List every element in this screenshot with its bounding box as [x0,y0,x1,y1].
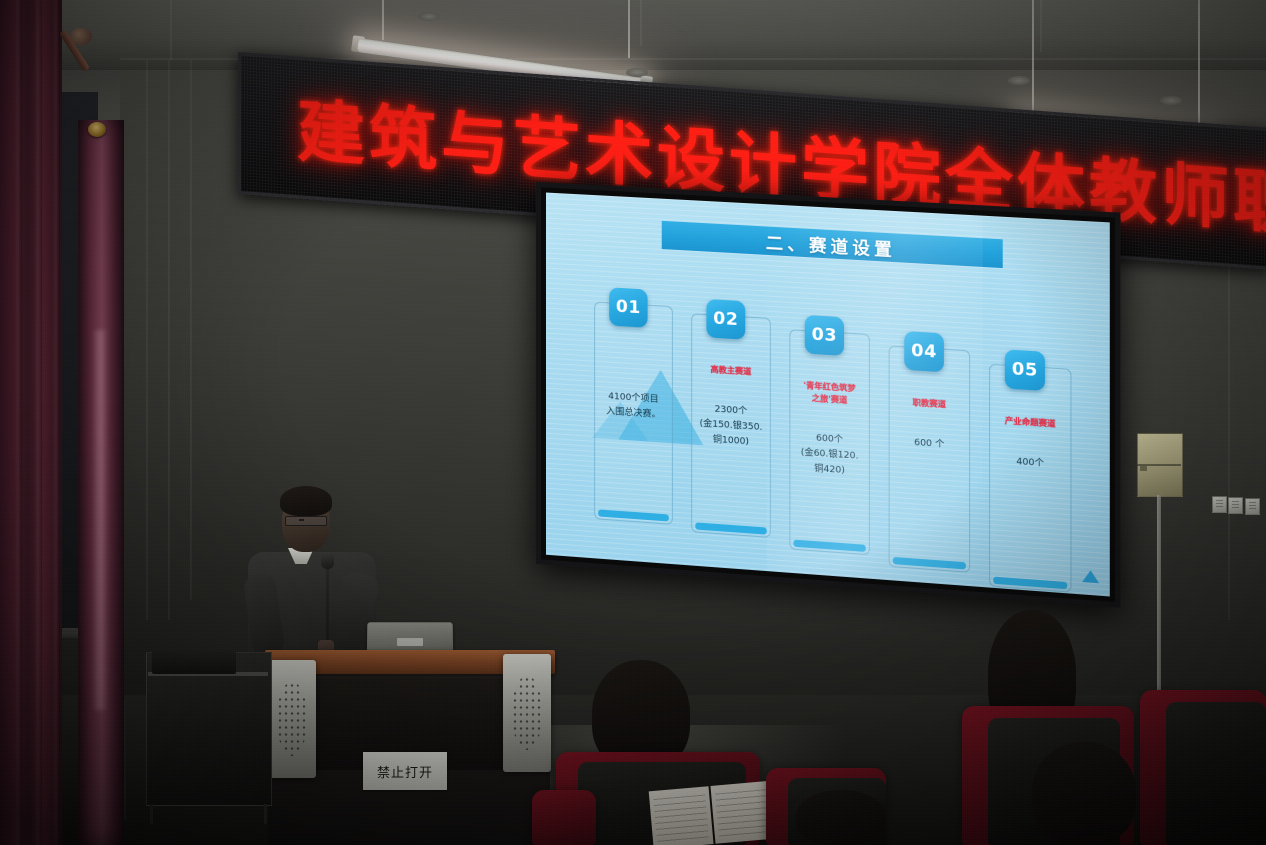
card-number: 01 [616,297,641,319]
light-switch [1212,496,1227,513]
light-switch [1245,498,1260,515]
ceiling-vent-icon [418,12,440,21]
track-card: 02 高教主赛道 2300个 (金150.银350. 铜1000) [691,313,771,538]
panel-latch [1140,466,1147,471]
ceiling-vent-icon [626,68,648,77]
audience-head [1032,742,1136,845]
card-heading: 产业命题赛道 [990,414,1070,432]
presentation-slide: 二、赛道设置 01 4100个项目 入围总决赛。 [546,193,1110,597]
card-heading: '青年红色筑梦 之旅'赛道 [790,379,869,408]
presenter-hair [280,486,332,516]
cart-equipment-box [152,650,236,674]
track-card: 04 职教赛道 600 个 [889,345,971,572]
track-card: 05 产业命题赛道 400个 [989,364,1071,593]
card-underbar [598,509,669,521]
seat-cushion [1166,702,1266,845]
wall-panel-line [168,60,170,620]
corner-triangle-icon [1082,570,1099,584]
card-number-badge: 04 [904,331,944,372]
card-heading [595,351,672,356]
cart-leg [264,804,267,824]
card-number-badge: 01 [609,287,647,327]
card-underbar [993,577,1067,590]
laptop-logo [397,638,423,646]
card-heading: 职教赛道 [890,395,969,412]
card-body: 2300个 (金150.银350. 铜1000) [684,401,778,453]
card-line: 600 个 [881,434,977,456]
podium-warning-sign: 禁止打开 [363,752,447,790]
notebook-lines [653,795,709,843]
card-line: 400个 [982,453,1079,475]
curtain-rod-knob [70,28,92,45]
light-stem [1198,0,1200,128]
eyeglasses [285,516,327,526]
slide-title-bar: 二、赛道设置 [662,221,1003,268]
audience-head [796,790,886,845]
wall-panel-line [190,60,192,600]
card-body: 600个 (金60.银120. 铜420) [782,429,877,481]
slide-title: 二、赛道设置 [766,228,896,261]
card-number: 02 [713,308,738,330]
open-notebook [649,781,776,845]
card-number: 04 [911,341,937,363]
card-number: 03 [812,324,837,346]
card-body: 4100个项目 入围总决赛。 [587,388,680,424]
cart-leg [150,804,153,824]
curtain-grommet [88,122,106,137]
notebook-lines [715,789,771,837]
ceiling-vent-icon [1008,76,1030,85]
card-number-badge: 05 [1005,349,1045,391]
ceiling-vent-icon [1160,96,1182,105]
microphone-icon [321,552,334,569]
card-number-badge: 03 [805,315,844,356]
light-stem [382,0,384,40]
podium-speaker-right [503,654,551,772]
lecture-hall-photo: 建筑与艺术设计学院全体教师职工大会 二、赛道设置 01 4100个项目 入围总决 [0,0,1266,845]
ceiling-seam [640,0,642,46]
light-stem [1032,0,1034,116]
card-body: 400个 [982,453,1079,475]
notebook-page-left [649,786,714,845]
curtain-fold [34,0,42,845]
podium-sign-text: 禁止打开 [377,762,433,781]
card-body: 600 个 [881,434,977,456]
auditorium-seat [532,790,596,845]
track-card: 03 '青年红色筑梦 之旅'赛道 600个 (金60.银120. 铜420) [789,329,870,555]
card-number: 05 [1012,359,1038,381]
curtain-fold [14,0,22,845]
card-underbar [695,522,767,534]
card-heading: 高教主赛道 [692,363,770,380]
light-stem [628,0,630,58]
track-card: 01 4100个项目 入围总决赛。 [594,301,673,524]
card-number-badge: 02 [706,299,745,340]
card-underbar [793,540,865,552]
card-underbar [893,557,966,569]
ceiling-seam [170,0,172,60]
speaker-grille [277,682,307,756]
projection-screen: 二、赛道设置 01 4100个项目 入围总决赛。 [536,182,1120,608]
curtain-fold [52,0,60,845]
curtain-sheen [92,330,108,710]
speaker-grille [512,676,542,750]
wall-panel-line [146,60,148,620]
ceiling-seam [1040,0,1042,52]
podium-speaker-left [268,660,316,778]
track-card-row: 01 4100个项目 入围总决赛。 02 高教主赛道 [594,285,1069,560]
light-switch [1228,497,1243,514]
